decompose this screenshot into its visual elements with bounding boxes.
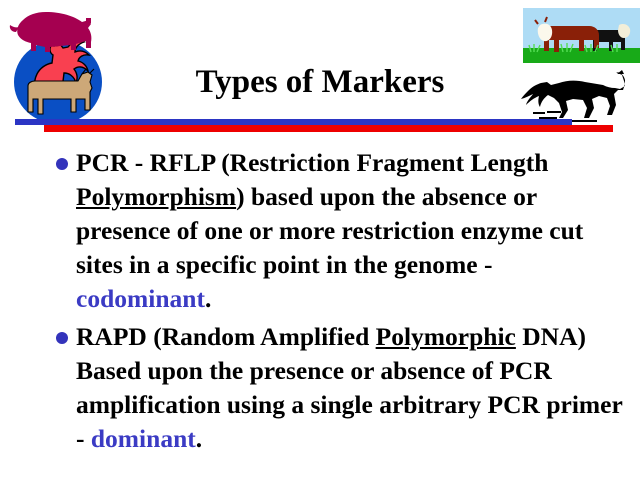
bullet-text-segment: PCR - RFLP (Restriction Fragment Length	[76, 148, 548, 177]
bullet-text-underlined: Polymorphic	[376, 322, 516, 351]
bullet-dot-icon	[56, 158, 68, 170]
bullet-text-segment: .	[205, 284, 211, 313]
bullet-dot-icon	[56, 332, 68, 344]
list-item: RAPD (Random Amplified Polymorphic DNA) …	[52, 320, 632, 456]
bullet-text-highlight: dominant	[91, 424, 196, 453]
bullet-text-segment: .	[196, 424, 202, 453]
horse-icon	[521, 70, 625, 118]
galloping-horse-silhouette	[521, 68, 629, 124]
bullet-text-segment: RAPD (Random Amplified	[76, 322, 376, 351]
slide-canvas: Types of Markers PCR - RFLP (Restriction…	[0, 0, 640, 480]
cattle-pasture-photo	[523, 8, 640, 63]
bullet-list: PCR - RFLP (Restriction Fragment Length …	[52, 146, 632, 460]
livestock-logo	[6, 2, 110, 128]
list-item: PCR - RFLP (Restriction Fragment Length …	[52, 146, 632, 316]
page-title: Types of Markers	[120, 62, 520, 102]
bullet-text-highlight: codominant	[76, 284, 205, 313]
bullet-text-underlined: Polymorphism	[76, 182, 236, 211]
divider-bar-red	[44, 125, 613, 132]
